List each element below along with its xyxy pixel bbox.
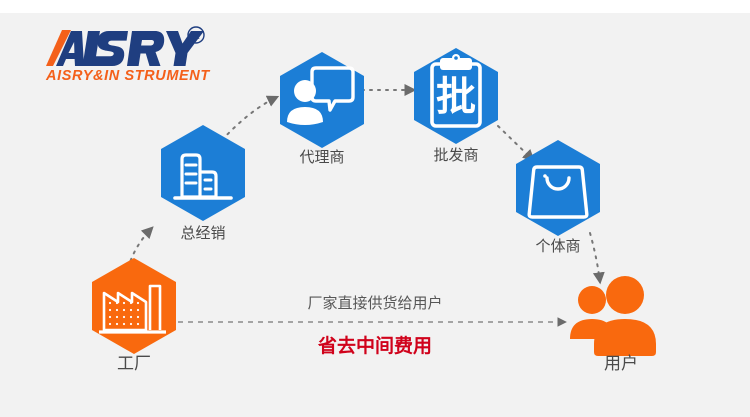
clipboard-character: 批 (436, 74, 476, 120)
diagram-screenshot: R AISRY&IN STRUMENT (0, 0, 750, 417)
label-general-distributor: 总经销 (160, 225, 246, 242)
clipboard-pi-icon: 批 (432, 54, 480, 126)
node-agent[interactable] (280, 52, 364, 148)
caption-cost-saving: 省去中间费用 (0, 331, 750, 358)
node-general-distributor[interactable] (161, 125, 245, 221)
caption-direct-supply: 厂家直接供货给用户 (0, 292, 750, 313)
connector-distributor-to-agent (222, 97, 277, 140)
label-user: 用户 (578, 356, 664, 373)
label-wholesaler: 批发商 (413, 147, 499, 164)
label-individual-merchant: 个体商 (515, 238, 601, 255)
label-factory: 工厂 (91, 356, 177, 373)
connector-wholesaler-to-merchant (498, 126, 533, 160)
node-wholesaler[interactable]: 批 (414, 48, 498, 144)
label-agent: 代理商 (279, 149, 365, 166)
